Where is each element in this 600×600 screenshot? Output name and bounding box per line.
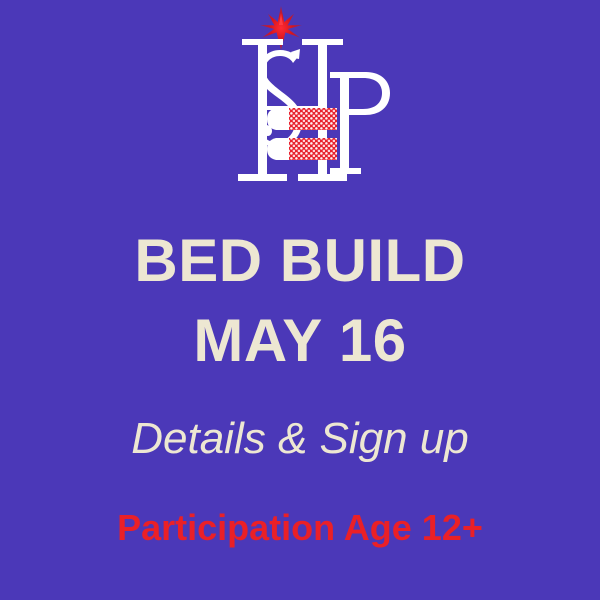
bunk-mattress-upper bbox=[267, 108, 337, 130]
logo-letter-p bbox=[330, 72, 390, 174]
logo-block bbox=[0, 0, 600, 205]
shp-monogram-logo bbox=[190, 2, 410, 202]
participation-age-notice: Participation Age 12+ bbox=[0, 510, 600, 546]
bunk-pillow-lower bbox=[267, 138, 289, 160]
bunk-pillow-upper bbox=[267, 108, 289, 130]
text-block: BED BUILD MAY 16 Details & Sign up Parti… bbox=[0, 205, 600, 600]
headline-event-date: MAY 16 bbox=[0, 311, 600, 371]
details-signup-text[interactable]: Details & Sign up bbox=[0, 417, 600, 461]
bunk-mattress-lower bbox=[267, 138, 337, 160]
headline-event-title: BED BUILD bbox=[0, 231, 600, 291]
poster-canvas: BED BUILD MAY 16 Details & Sign up Parti… bbox=[0, 0, 600, 600]
